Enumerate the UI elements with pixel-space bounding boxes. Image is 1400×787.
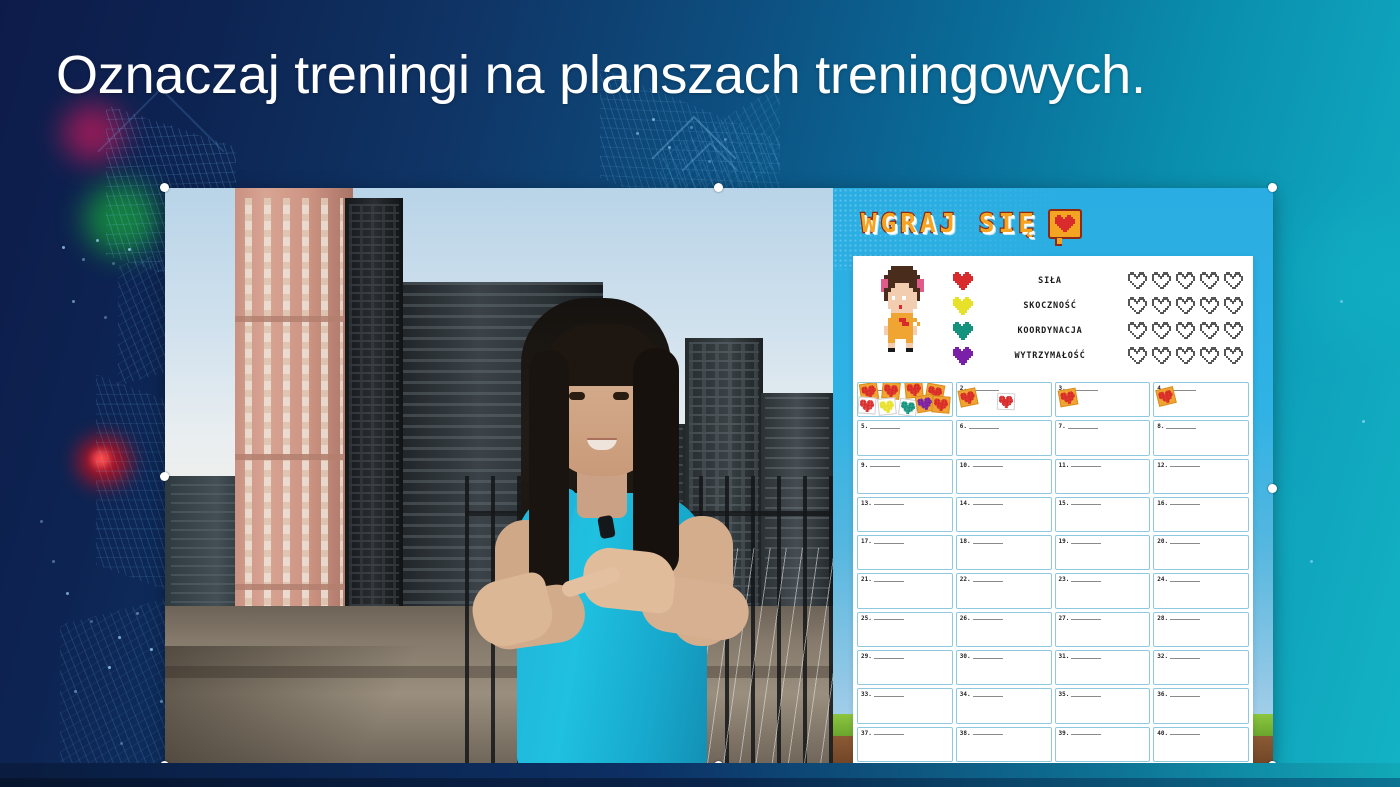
- cell-write-line: [1170, 540, 1200, 544]
- training-grid-cell[interactable]: 1.: [857, 382, 953, 417]
- training-grid-cell[interactable]: 12.: [1153, 459, 1249, 494]
- heart-sticker: [1057, 388, 1078, 408]
- cell-number-text: 18.: [960, 538, 971, 545]
- cell-write-line: [973, 731, 1003, 735]
- cell-number: 26.: [960, 615, 1003, 622]
- training-grid-cell[interactable]: 34.: [956, 688, 1052, 723]
- empty-heart-icon[interactable]: [1224, 272, 1243, 289]
- cell-write-line: [1071, 463, 1101, 467]
- cell-number-text: 40.: [1157, 730, 1168, 737]
- cell-number-text: 12.: [1157, 462, 1168, 469]
- cell-number-text: 17.: [861, 538, 872, 545]
- cell-write-line: [1071, 540, 1101, 544]
- cell-number: 28.: [1157, 615, 1200, 622]
- training-grid-cell[interactable]: 14.: [956, 497, 1052, 532]
- training-grid-cell[interactable]: 19.: [1055, 535, 1151, 570]
- cell-number-text: 15.: [1059, 500, 1070, 507]
- training-grid-cell[interactable]: 24.: [1153, 573, 1249, 608]
- presenter-eye-right: [613, 392, 629, 400]
- cell-write-line: [874, 578, 904, 582]
- training-grid-cell[interactable]: 17.: [857, 535, 953, 570]
- training-grid-cell[interactable]: 4.: [1153, 382, 1249, 417]
- training-grid-cell[interactable]: 37.: [857, 727, 953, 762]
- cell-number-text: 38.: [960, 730, 971, 737]
- heart-sticker: [996, 393, 1015, 411]
- training-grid-cell[interactable]: 8.: [1153, 420, 1249, 455]
- cell-write-line: [1170, 463, 1200, 467]
- empty-heart-icon[interactable]: [1200, 322, 1219, 339]
- empty-heart-icon[interactable]: [1152, 347, 1171, 364]
- cell-number-text: 7.: [1059, 423, 1066, 430]
- training-grid-cell[interactable]: 21.: [857, 573, 953, 608]
- cell-number-text: 14.: [960, 500, 971, 507]
- empty-heart-icon[interactable]: [1152, 272, 1171, 289]
- training-grid-cell[interactable]: 31.: [1055, 650, 1151, 685]
- page-title: Oznaczaj treningi na planszach treningow…: [56, 44, 1346, 106]
- cell-number-text: 13.: [861, 500, 872, 507]
- training-grid-cell[interactable]: 27.: [1055, 612, 1151, 647]
- cell-number-text: 31.: [1059, 653, 1070, 660]
- presenter-video-frame: [165, 188, 833, 766]
- cell-number: 7.: [1059, 423, 1098, 430]
- cell-write-line: [1071, 501, 1101, 505]
- training-grid-cell[interactable]: 26.: [956, 612, 1052, 647]
- empty-heart-icon[interactable]: [1152, 297, 1171, 314]
- cell-write-line: [1170, 501, 1200, 505]
- stat-heart-icon: [953, 322, 973, 340]
- worksheet-title: WGRAJ SIĘ: [861, 209, 1038, 239]
- cell-number: 8.: [1157, 423, 1196, 430]
- cell-write-line: [973, 501, 1003, 505]
- cell-write-line: [973, 463, 1003, 467]
- empty-heart-icon[interactable]: [1128, 297, 1147, 314]
- cell-number-text: 27.: [1059, 615, 1070, 622]
- selection-handle-middle-left[interactable]: [160, 472, 169, 481]
- stat-pip-group: [1121, 297, 1245, 314]
- background-orb-red-glow: [92, 450, 110, 468]
- training-grid-cell[interactable]: 22.: [956, 573, 1052, 608]
- training-grid-cell[interactable]: 30.: [956, 650, 1052, 685]
- cell-number: 17.: [861, 538, 904, 545]
- training-board-image[interactable]: WGRAJ SIĘ SIŁASKOCZNOŚĆKOORDYNACJAWYTRZY…: [165, 188, 1273, 766]
- stat-label: SKOCZNOŚĆ: [979, 301, 1121, 311]
- cell-number: 9.: [861, 462, 900, 469]
- cell-number-text: 36.: [1157, 691, 1168, 698]
- cell-number-text: 30.: [960, 653, 971, 660]
- presenter-hair-left: [529, 350, 569, 610]
- cell-number: 29.: [861, 653, 904, 660]
- heart-sticker: [931, 395, 950, 414]
- training-grid-cell[interactable]: 3.: [1055, 382, 1151, 417]
- cell-number-text: 22.: [960, 576, 971, 583]
- cell-number-text: 20.: [1157, 538, 1168, 545]
- training-grid-cell[interactable]: 33.: [857, 688, 953, 723]
- cell-number-text: 24.: [1157, 576, 1168, 583]
- training-grid-cell[interactable]: 10.: [956, 459, 1052, 494]
- cell-number: 40.: [1157, 730, 1200, 737]
- slide-bottom-strip-inner: [0, 778, 1400, 787]
- stat-heart-icon: [953, 272, 973, 290]
- cell-number-text: 35.: [1059, 691, 1070, 698]
- selection-handle-top-right[interactable]: [1268, 183, 1277, 192]
- empty-heart-icon[interactable]: [1152, 322, 1171, 339]
- training-grid-cell[interactable]: 2.: [956, 382, 1052, 417]
- cell-number: 6.: [960, 423, 999, 430]
- cell-number: 10.: [960, 462, 1003, 469]
- cell-number: 23.: [1059, 576, 1102, 583]
- training-grid-cell[interactable]: 25.: [857, 612, 953, 647]
- presenter-hair-right: [633, 348, 679, 578]
- empty-heart-icon[interactable]: [1224, 322, 1243, 339]
- cell-number: 35.: [1059, 691, 1102, 698]
- empty-heart-icon[interactable]: [1176, 347, 1195, 364]
- building-band: [235, 454, 353, 460]
- rooftop-shadow: [165, 646, 465, 766]
- cell-number: 38.: [960, 730, 1003, 737]
- empty-heart-icon[interactable]: [1128, 322, 1147, 339]
- cell-number: 12.: [1157, 462, 1200, 469]
- cell-write-line: [973, 693, 1003, 697]
- cell-number: 25.: [861, 615, 904, 622]
- training-grid-cell[interactable]: 28.: [1153, 612, 1249, 647]
- cell-write-line: [1170, 693, 1200, 697]
- cell-number: 31.: [1059, 653, 1102, 660]
- selection-handle-top-left[interactable]: [160, 183, 169, 192]
- cell-write-line: [973, 540, 1003, 544]
- heart-speech-bubble-icon: [1048, 209, 1082, 239]
- stat-pip-group: [1121, 322, 1245, 339]
- cell-write-line: [874, 731, 904, 735]
- cell-number-text: 5.: [861, 423, 868, 430]
- cell-write-line: [874, 540, 904, 544]
- cell-write-line: [1071, 731, 1101, 735]
- cell-write-line: [1071, 578, 1101, 582]
- empty-heart-icon[interactable]: [1176, 322, 1195, 339]
- cell-number-text: 8.: [1157, 423, 1164, 430]
- cell-number: 34.: [960, 691, 1003, 698]
- cell-number-text: 34.: [960, 691, 971, 698]
- cell-write-line: [1071, 693, 1101, 697]
- cell-number: 18.: [960, 538, 1003, 545]
- training-grid: 1.2.3.4.5.6.7.8.9.10.11.12.13.14.15.16.1…: [857, 382, 1249, 762]
- selection-handle-middle-right[interactable]: [1268, 484, 1277, 493]
- training-grid-cell[interactable]: 15.: [1055, 497, 1151, 532]
- cell-write-line: [1166, 425, 1196, 429]
- cell-number: 33.: [861, 691, 904, 698]
- stat-pip-group: [1121, 347, 1245, 364]
- stat-row-4: WYTRZYMAŁOŚĆ: [953, 343, 1245, 368]
- training-grid-cell[interactable]: 36.: [1153, 688, 1249, 723]
- cell-number: 13.: [861, 500, 904, 507]
- cell-number: 21.: [861, 576, 904, 583]
- cell-write-line: [874, 655, 904, 659]
- stat-label: WYTRZYMAŁOŚĆ: [979, 351, 1121, 361]
- empty-heart-icon[interactable]: [1176, 297, 1195, 314]
- building-band: [235, 584, 353, 590]
- heart-sticker: [877, 397, 897, 416]
- empty-heart-icon[interactable]: [1224, 297, 1243, 314]
- heart-sticker: [957, 387, 978, 407]
- training-grid-cell[interactable]: 35.: [1055, 688, 1151, 723]
- cell-number: 11.: [1059, 462, 1102, 469]
- cell-number-text: 19.: [1059, 538, 1070, 545]
- empty-heart-icon[interactable]: [1128, 272, 1147, 289]
- background-orb-green: [84, 183, 160, 255]
- cell-write-line: [870, 463, 900, 467]
- presentation-slide: Oznaczaj treningi na planszach treningow…: [0, 0, 1400, 787]
- empty-heart-icon[interactable]: [1200, 297, 1219, 314]
- cell-number-text: 23.: [1059, 576, 1070, 583]
- stat-label: SIŁA: [979, 276, 1121, 286]
- presenter-eye-left: [569, 392, 585, 400]
- worksheet-sheet: SIŁASKOCZNOŚĆKOORDYNACJAWYTRZYMAŁOŚĆ 1.2…: [853, 256, 1253, 766]
- cell-write-line: [1170, 655, 1200, 659]
- cell-write-line: [1170, 578, 1200, 582]
- cell-number-text: 16.: [1157, 500, 1168, 507]
- stat-rows: SIŁASKOCZNOŚĆKOORDYNACJAWYTRZYMAŁOŚĆ: [953, 256, 1253, 380]
- cell-number-text: 6.: [960, 423, 967, 430]
- cell-write-line: [874, 693, 904, 697]
- empty-heart-icon[interactable]: [1176, 272, 1195, 289]
- background-orb-magenta: [62, 104, 124, 162]
- selection-handle-top-center[interactable]: [714, 183, 723, 192]
- training-grid-cell[interactable]: 5.: [857, 420, 953, 455]
- stat-label: KOORDYNACJA: [979, 326, 1121, 336]
- cell-write-line: [1068, 425, 1098, 429]
- training-grid-cell[interactable]: 9.: [857, 459, 953, 494]
- presenter-figure: [465, 288, 765, 766]
- cell-number-text: 26.: [960, 615, 971, 622]
- cell-number: 15.: [1059, 500, 1102, 507]
- cell-number-text: 39.: [1059, 730, 1070, 737]
- training-grid-cell[interactable]: 32.: [1153, 650, 1249, 685]
- cell-number-text: 21.: [861, 576, 872, 583]
- cell-number-text: 11.: [1059, 462, 1070, 469]
- training-grid-cell[interactable]: 11.: [1055, 459, 1151, 494]
- empty-heart-icon[interactable]: [1224, 347, 1243, 364]
- cell-number: 27.: [1059, 615, 1102, 622]
- empty-heart-icon[interactable]: [1200, 347, 1219, 364]
- cell-number-text: 9.: [861, 462, 868, 469]
- stats-panel: SIŁASKOCZNOŚĆKOORDYNACJAWYTRZYMAŁOŚĆ: [853, 256, 1253, 380]
- background-orb-red: [78, 437, 130, 485]
- training-grid-cell[interactable]: 23.: [1055, 573, 1151, 608]
- cell-write-line: [1071, 655, 1101, 659]
- heart-sticker: [857, 396, 876, 414]
- cell-number-text: 33.: [861, 691, 872, 698]
- stat-row-1: SIŁA: [953, 268, 1245, 293]
- cell-number: 19.: [1059, 538, 1102, 545]
- cell-number: 5.: [861, 423, 900, 430]
- cell-number-text: 28.: [1157, 615, 1168, 622]
- training-grid-cell[interactable]: 16.: [1153, 497, 1249, 532]
- worksheet-header: WGRAJ SIĘ: [861, 204, 1251, 244]
- cell-number-text: 37.: [861, 730, 872, 737]
- cell-number-text: 25.: [861, 615, 872, 622]
- pixel-girl-avatar: [853, 256, 953, 380]
- training-grid-cell[interactable]: 18.: [956, 535, 1052, 570]
- cell-write-line: [874, 616, 904, 620]
- cell-write-line: [973, 616, 1003, 620]
- cell-number: 32.: [1157, 653, 1200, 660]
- training-grid-cell[interactable]: 40.: [1153, 727, 1249, 762]
- training-grid-cell[interactable]: 7.: [1055, 420, 1151, 455]
- training-grid-cell[interactable]: 13.: [857, 497, 953, 532]
- training-grid-cell[interactable]: 39.: [1055, 727, 1151, 762]
- empty-heart-icon[interactable]: [1200, 272, 1219, 289]
- cell-write-line: [1170, 731, 1200, 735]
- cell-number: 22.: [960, 576, 1003, 583]
- stat-heart-icon: [953, 297, 973, 315]
- background-orb-teal: [1290, 210, 1400, 340]
- cell-write-line: [874, 501, 904, 505]
- cell-number: 30.: [960, 653, 1003, 660]
- stat-row-2: SKOCZNOŚĆ: [953, 293, 1245, 318]
- stat-pip-group: [1121, 272, 1245, 289]
- cell-number: 16.: [1157, 500, 1200, 507]
- cell-number: 39.: [1059, 730, 1102, 737]
- cell-number-text: 32.: [1157, 653, 1168, 660]
- stat-heart-icon: [953, 347, 973, 365]
- stat-row-3: KOORDYNACJA: [953, 318, 1245, 343]
- training-grid-cell[interactable]: 6.: [956, 420, 1052, 455]
- cell-write-line: [973, 655, 1003, 659]
- cell-number: 14.: [960, 500, 1003, 507]
- cell-write-line: [1071, 616, 1101, 620]
- building-band: [235, 316, 353, 322]
- empty-heart-icon[interactable]: [1128, 347, 1147, 364]
- cell-number: 24.: [1157, 576, 1200, 583]
- cell-write-line: [870, 425, 900, 429]
- cell-write-line: [969, 425, 999, 429]
- cell-number-text: 10.: [960, 462, 971, 469]
- cell-number: 20.: [1157, 538, 1200, 545]
- cell-number-text: 29.: [861, 653, 872, 660]
- cell-write-line: [973, 578, 1003, 582]
- training-grid-cell[interactable]: 29.: [857, 650, 953, 685]
- cell-write-line: [1170, 616, 1200, 620]
- training-grid-cell[interactable]: 38.: [956, 727, 1052, 762]
- cell-number: 36.: [1157, 691, 1200, 698]
- training-worksheet: WGRAJ SIĘ SIŁASKOCZNOŚĆKOORDYNACJAWYTRZY…: [833, 188, 1273, 766]
- cell-number: 37.: [861, 730, 904, 737]
- training-grid-cell[interactable]: 20.: [1153, 535, 1249, 570]
